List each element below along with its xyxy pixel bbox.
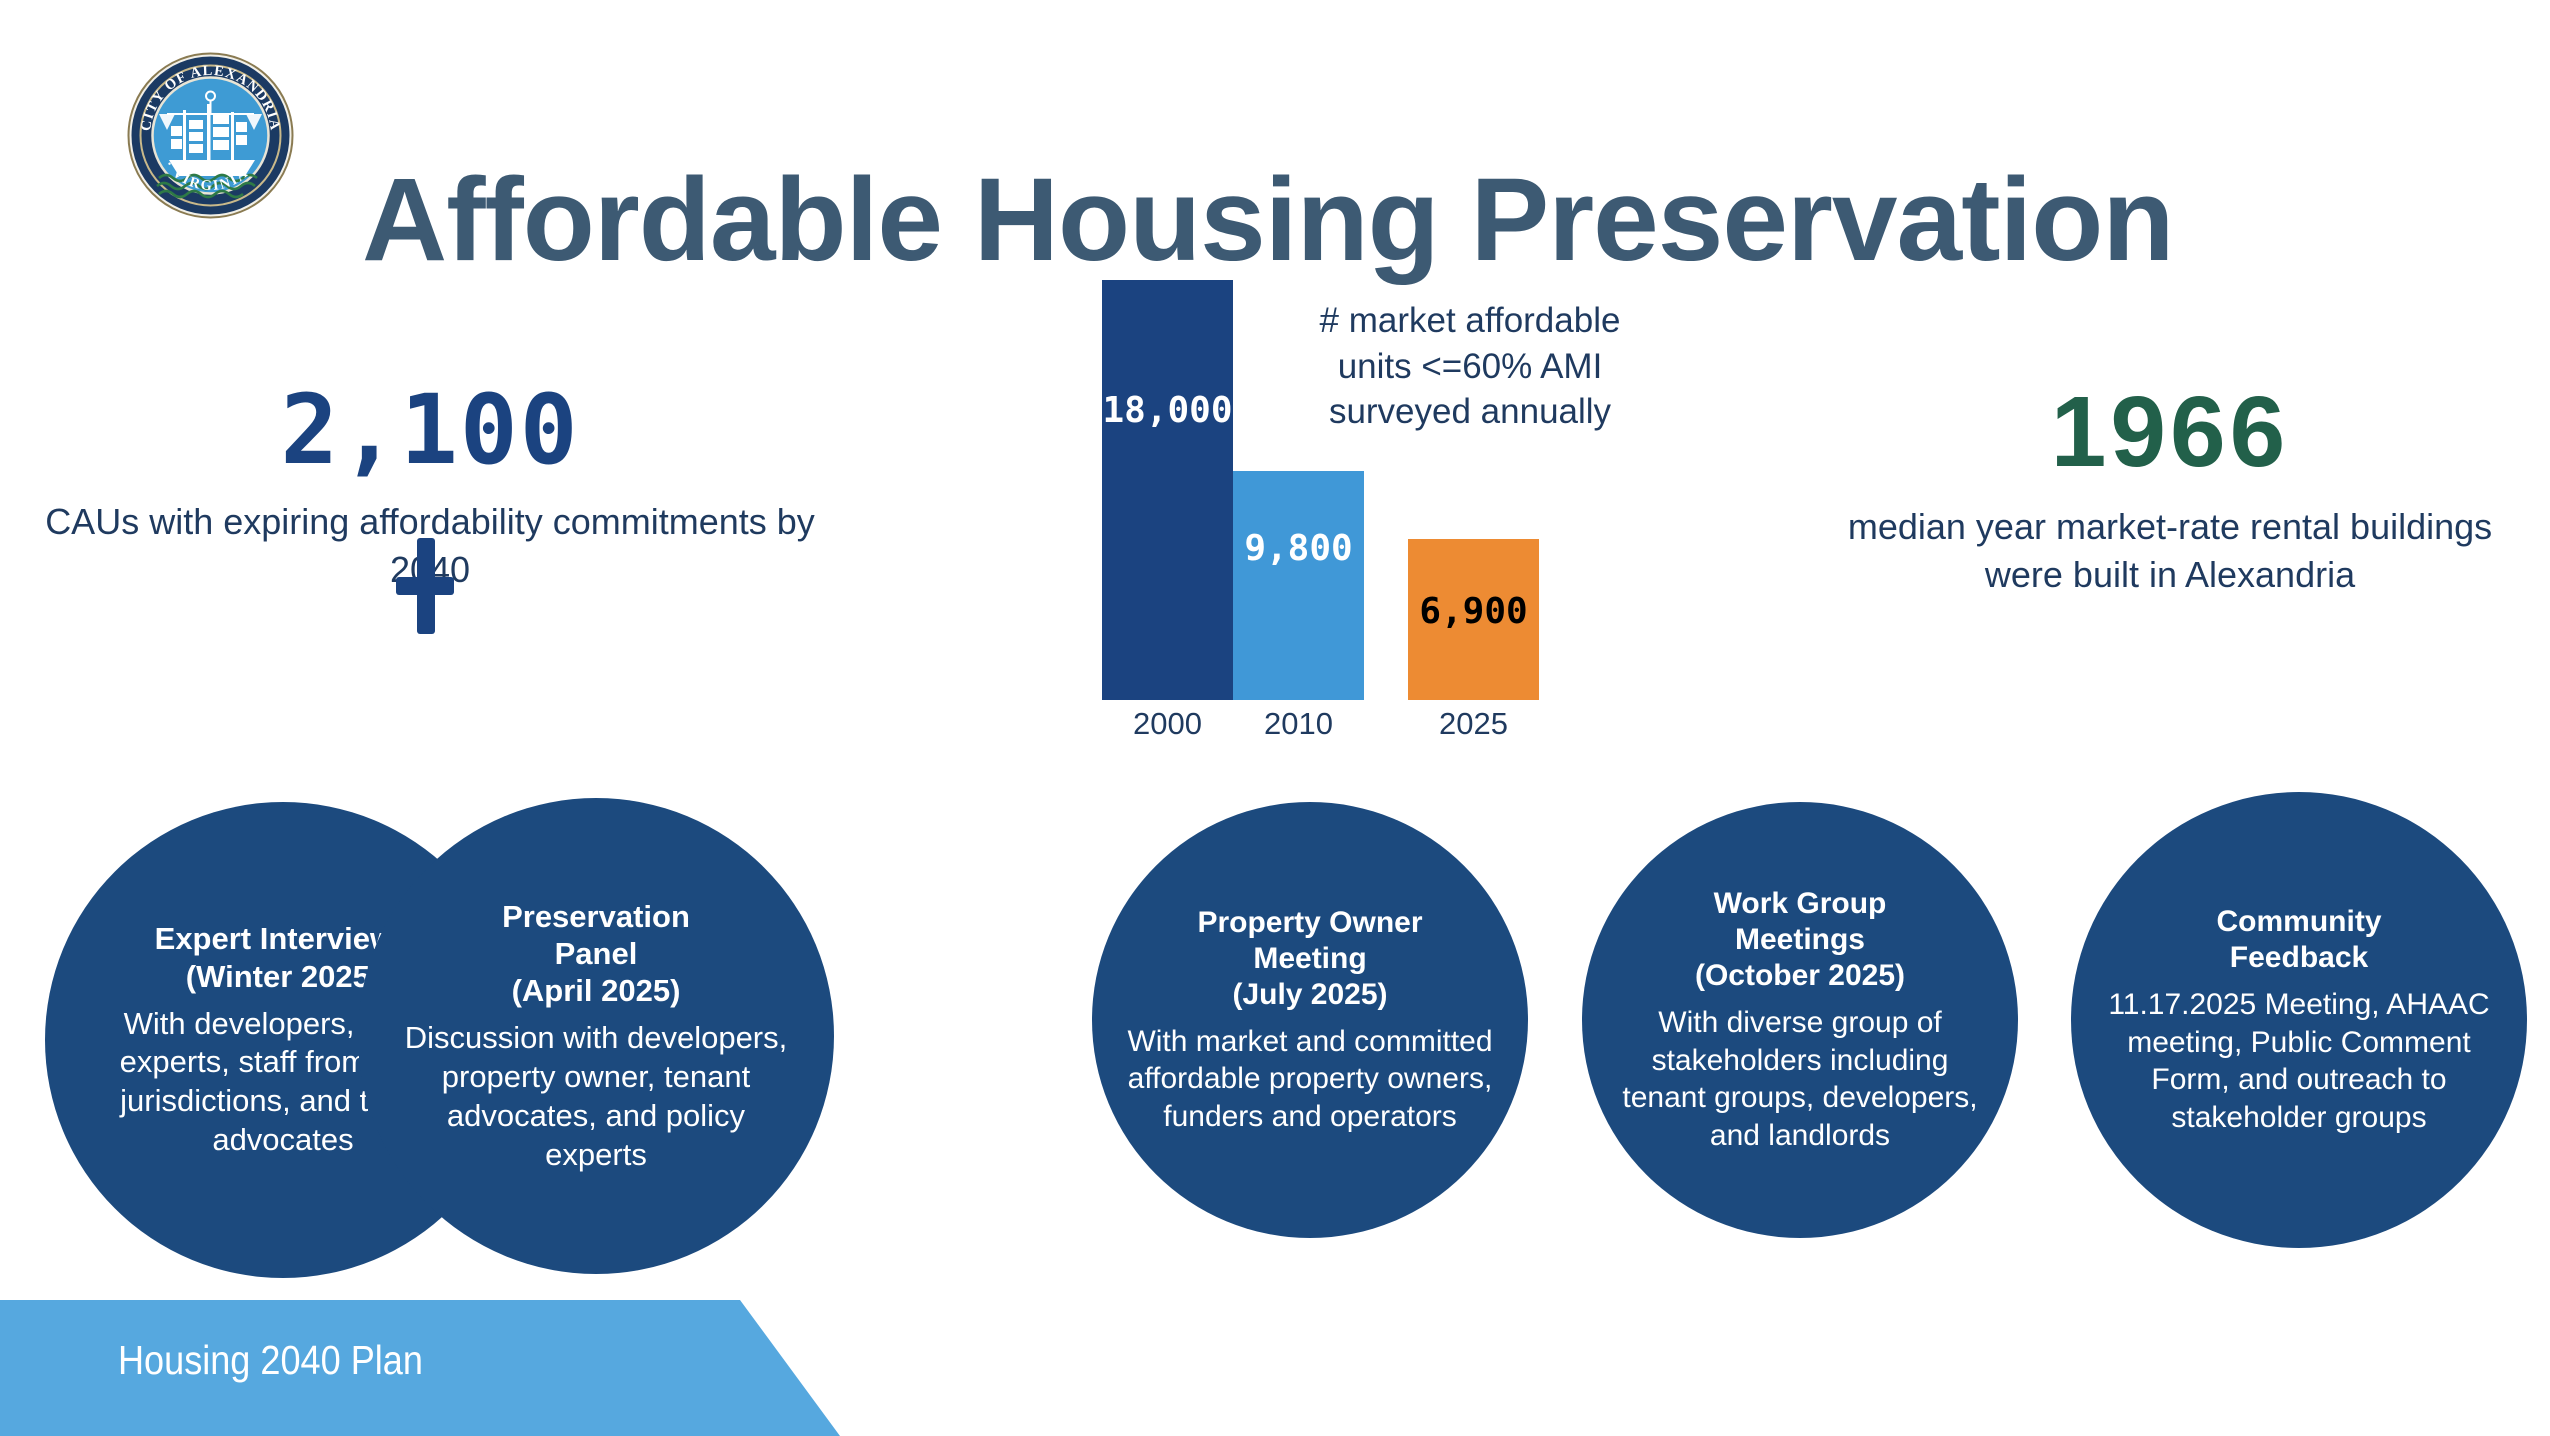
x-tick-2010: 2010 bbox=[1233, 706, 1364, 742]
engagement-circle-community-feedback: Community Feedback 11.17.2025 Meeting, A… bbox=[2071, 792, 2527, 1248]
circle-body: 11.17.2025 Meeting, AHAAC meeting, Publi… bbox=[2093, 986, 2505, 1136]
bar-value-2000: 18,000 bbox=[1098, 390, 1237, 431]
circle-title-line: Meetings bbox=[1695, 922, 1905, 958]
circle-title: Property Owner Meeting (July 2025) bbox=[1197, 905, 1422, 1013]
circle-title-line: Meeting bbox=[1197, 941, 1422, 977]
circle-body: Discussion with developers, property own… bbox=[396, 1019, 796, 1174]
stat-right-caption: median year market-rate rental buildings… bbox=[1820, 503, 2520, 598]
circle-title-line: Community bbox=[2217, 904, 2382, 940]
circle-title-line: Preservation bbox=[502, 898, 690, 935]
city-of-alexandria-seal-icon: CITY OF ALEXANDRIA · VIRGINIA · bbox=[127, 52, 294, 219]
stat-block-median-year: 1966 median year market-rate rental buil… bbox=[1820, 370, 2520, 598]
circle-title: Community Feedback bbox=[2217, 904, 2382, 976]
circle-title-line: Feedback bbox=[2217, 940, 2382, 976]
engagement-circles-row: Expert Interviews (Winter 2025) With dev… bbox=[0, 798, 2550, 1280]
plus-icon bbox=[396, 538, 454, 634]
stat-left-value: 2,100 bbox=[40, 370, 820, 490]
circle-title-line: Panel bbox=[502, 935, 690, 972]
circle-title-line: (July 2025) bbox=[1197, 977, 1422, 1013]
circle-title: Work Group Meetings (October 2025) bbox=[1695, 886, 1905, 994]
circle-title-line: Property Owner bbox=[1197, 905, 1422, 941]
engagement-circle-property-owner-meeting: Property Owner Meeting (July 2025) With … bbox=[1092, 802, 1528, 1238]
engagement-circle-preservation-panel: Preservation Panel (April 2025) Discussi… bbox=[358, 798, 834, 1274]
bar-2025: 6,900 bbox=[1408, 539, 1539, 700]
x-tick-2025: 2025 bbox=[1408, 706, 1539, 742]
bar-2000: 18,000 bbox=[1102, 280, 1233, 700]
slide-canvas: CITY OF ALEXANDRIA · VIRGINIA · Affordab… bbox=[0, 0, 2550, 1436]
chart-title: # market affordable units <=60% AMI surv… bbox=[1300, 298, 1640, 435]
circle-title: Preservation Panel (April 2025) bbox=[502, 898, 690, 1010]
engagement-circle-work-group-meetings: Work Group Meetings (October 2025) With … bbox=[1582, 802, 2018, 1238]
circle-body: With market and committed affordable pro… bbox=[1120, 1023, 1500, 1136]
bar-value-2025: 6,900 bbox=[1408, 591, 1539, 632]
bar-2010: 9,800 bbox=[1233, 471, 1364, 700]
stat-right-value: 1966 bbox=[1820, 370, 2520, 495]
circle-title-line: Work Group bbox=[1695, 886, 1905, 922]
bar-value-2010: 9,800 bbox=[1233, 528, 1364, 569]
footer-label: Housing 2040 Plan bbox=[118, 1337, 423, 1384]
circle-title-line: (October 2025) bbox=[1695, 958, 1905, 994]
circle-body: With diverse group of stakeholders inclu… bbox=[1606, 1004, 1994, 1154]
x-tick-2000: 2000 bbox=[1102, 706, 1233, 742]
page-title: Affordable Housing Preservation bbox=[362, 159, 2173, 283]
circle-title-line: (April 2025) bbox=[502, 972, 690, 1009]
